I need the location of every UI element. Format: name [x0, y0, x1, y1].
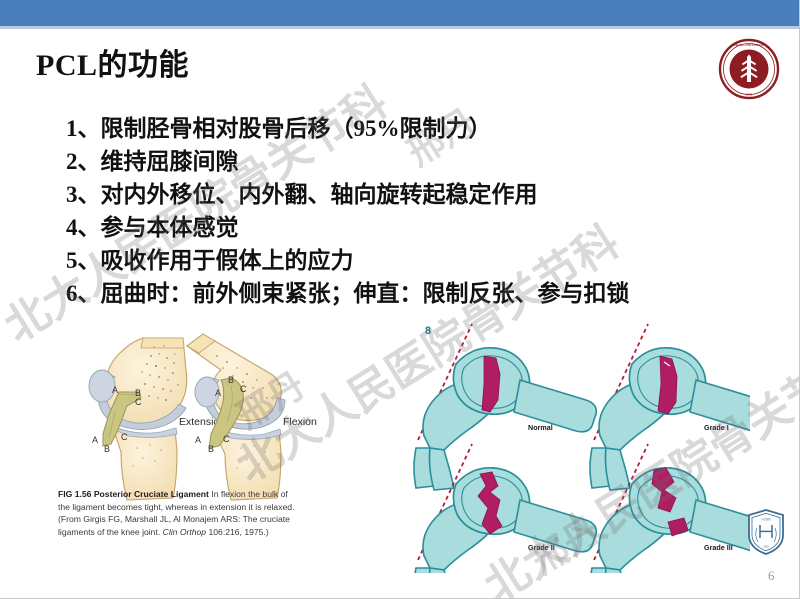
- svg-text:1918: 1918: [763, 545, 769, 548]
- top-banner: [0, 0, 800, 26]
- label-a-tibia-flex: A: [195, 435, 201, 445]
- grade-panel-normal: Normal: [414, 324, 596, 490]
- svg-text:1898: 1898: [746, 93, 753, 97]
- svg-text:PEKING UNIVERSITY: PEKING UNIVERSITY: [732, 43, 767, 47]
- label-c-femur: C: [135, 397, 142, 407]
- page-title: PCL的功能: [36, 40, 189, 84]
- caption-line-2: the ligament becomes tight, whereas in e…: [58, 501, 388, 514]
- bullet-item-5: 5、吸收作用于假体上的应力: [66, 244, 766, 277]
- label-a-femur: A: [112, 385, 118, 395]
- label-c-femur-flex: C: [240, 384, 247, 394]
- bullet-item-3: 3、对内外移位、内外翻、轴向旋转起稳定作用: [66, 178, 766, 211]
- caption-fig-prefix: FIG 1.56: [58, 489, 91, 499]
- grade-label-normal: Normal: [528, 423, 553, 432]
- label-a-tibia: A: [92, 435, 98, 445]
- grade-panel-i: Grade I: [590, 324, 750, 490]
- label-b-femur-flex: B: [228, 375, 234, 385]
- caption-line-1: FIG 1.56 Posterior Cruciate Ligament In …: [58, 488, 388, 501]
- hospital-shield-logo: 人民医院 1918: [746, 508, 786, 556]
- pku-seal-logo: PEKING UNIVERSITY 1898: [718, 38, 780, 100]
- bullet-list: 1、限制胫骨相对股骨后移（95%限制力） 2、维持屈膝间隙 3、对内外移位、内外…: [66, 112, 766, 310]
- pcl-grade-figure: Normal Grade I Grade II: [410, 318, 750, 573]
- bullet-item-6: 6、屈曲时：前外侧束紧张；伸直：限制反张、参与扣锁: [66, 277, 766, 310]
- caption-line4-b: 106:216, 1975.): [208, 527, 268, 537]
- label-a-femur-flex: A: [215, 388, 221, 398]
- label-flexion: Flexion: [283, 416, 317, 428]
- caption-journal-name: Clin Orthop: [163, 527, 206, 537]
- page-number: 6: [768, 568, 775, 584]
- figure-caption: FIG 1.56 Posterior Cruciate Ligament In …: [58, 488, 388, 538]
- bullet-item-4: 4、参与本体感觉: [66, 211, 766, 244]
- grade-label-iii: Grade III: [704, 543, 733, 552]
- label-b-tibia-flex: B: [208, 444, 214, 454]
- slide: PCL的功能 PEKING UNIVERSITY 1898 1、限制胫骨相对股骨…: [0, 0, 800, 599]
- bullet-item-2: 2、维持屈膝间隙: [66, 145, 766, 178]
- knee-extension-drawing: A B C C A B Extension: [89, 338, 225, 500]
- banner-rule: [0, 26, 800, 29]
- label-b-tibia: B: [104, 444, 110, 454]
- label-c-tibia-flex: C: [223, 434, 230, 444]
- caption-line-4: ligaments of the knee joint. Clin Orthop…: [58, 526, 388, 539]
- caption-line-3: (From Girgis FG, Marshall JL, Al Monajem…: [58, 513, 388, 526]
- caption-line1-rest: In flexion the bulk of: [211, 489, 287, 499]
- grade-label-i: Grade I: [704, 423, 729, 432]
- bullet-item-1: 1、限制胫骨相对股骨后移（95%限制力）: [66, 112, 766, 145]
- label-c-tibia: C: [121, 432, 128, 442]
- caption-fig-title: Posterior Cruciate Ligament: [94, 489, 209, 499]
- caption-line4-a: ligaments of the knee joint.: [58, 527, 160, 537]
- grade-label-ii: Grade II: [528, 543, 555, 552]
- svg-text:人民医院: 人民医院: [761, 517, 771, 521]
